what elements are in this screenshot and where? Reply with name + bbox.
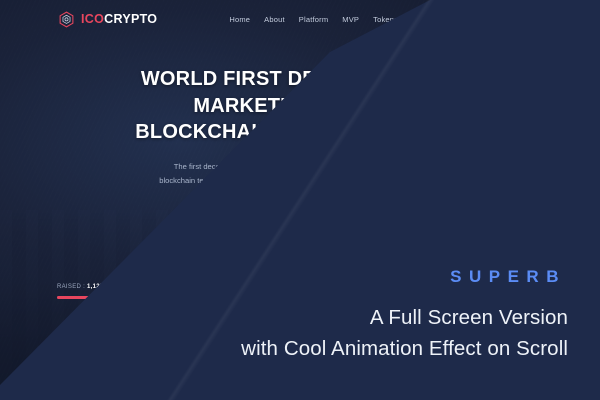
promo-line-2: with Cool Animation Effect on Scroll [241,333,568,364]
promo-kicker: SUPERB [241,268,568,285]
logo-text-crypto: CRYPTO [104,12,157,26]
nav-item-mvp[interactable]: MVP [342,15,359,24]
promo-line-1: A Full Screen Version [241,302,568,333]
nav-item-home[interactable]: Home [229,15,250,24]
landing-page-screenshot: RAISED : 11,250 Tokens 20% COMPLETION 30… [0,0,600,400]
nav-item-platform[interactable]: Platform [299,15,329,24]
site-logo[interactable]: ICOCRYPTO [58,11,157,28]
hexagon-logo-icon [58,11,75,28]
logo-wordmark: ICOCRYPTO [81,13,157,26]
raise-label-prefix: RAISED : [57,284,85,290]
logo-text-ico: ICO [81,12,104,26]
promo-caption-block: SUPERB A Full Screen Version with Cool A… [241,268,568,364]
nav-item-about[interactable]: About [264,15,285,24]
